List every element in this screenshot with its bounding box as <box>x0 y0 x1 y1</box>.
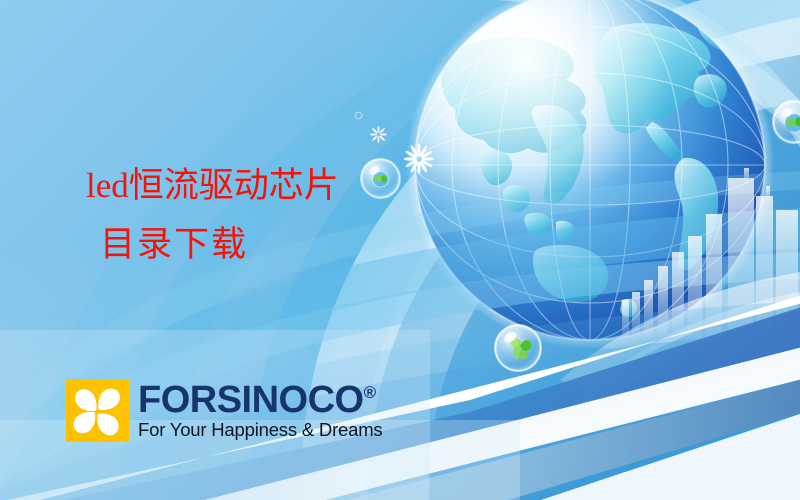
registered-mark: ® <box>364 383 377 402</box>
brand-logo[interactable]: FORSINOCO® For Your Happiness & Dreams <box>66 379 382 442</box>
flower-sparkle-icon <box>353 110 364 121</box>
four-petal-pinwheel-icon <box>66 379 129 442</box>
page-title: led恒流驱动芯片 目录下载 <box>86 164 339 268</box>
globe-bubble-icon <box>772 100 800 144</box>
brand-tagline: For Your Happiness & Dreams <box>138 421 382 440</box>
brand-name-text: FORSINOCO <box>138 379 364 421</box>
leaf-bubble-icon <box>494 324 542 372</box>
headline-line-2: 目录下载 <box>100 223 339 268</box>
globe-bubble-icon <box>360 158 401 199</box>
headline-line-1: led恒流驱动芯片 <box>86 164 339 209</box>
flower-sparkle-icon <box>404 144 434 174</box>
brand-name: FORSINOCO® <box>138 381 382 419</box>
flower-sparkle-icon <box>370 126 387 143</box>
banner-root: led恒流驱动芯片 目录下载 FORSINOCO® For Your Happi… <box>0 0 800 500</box>
logo-wordmark: FORSINOCO® For Your Happiness & Dreams <box>138 381 382 440</box>
